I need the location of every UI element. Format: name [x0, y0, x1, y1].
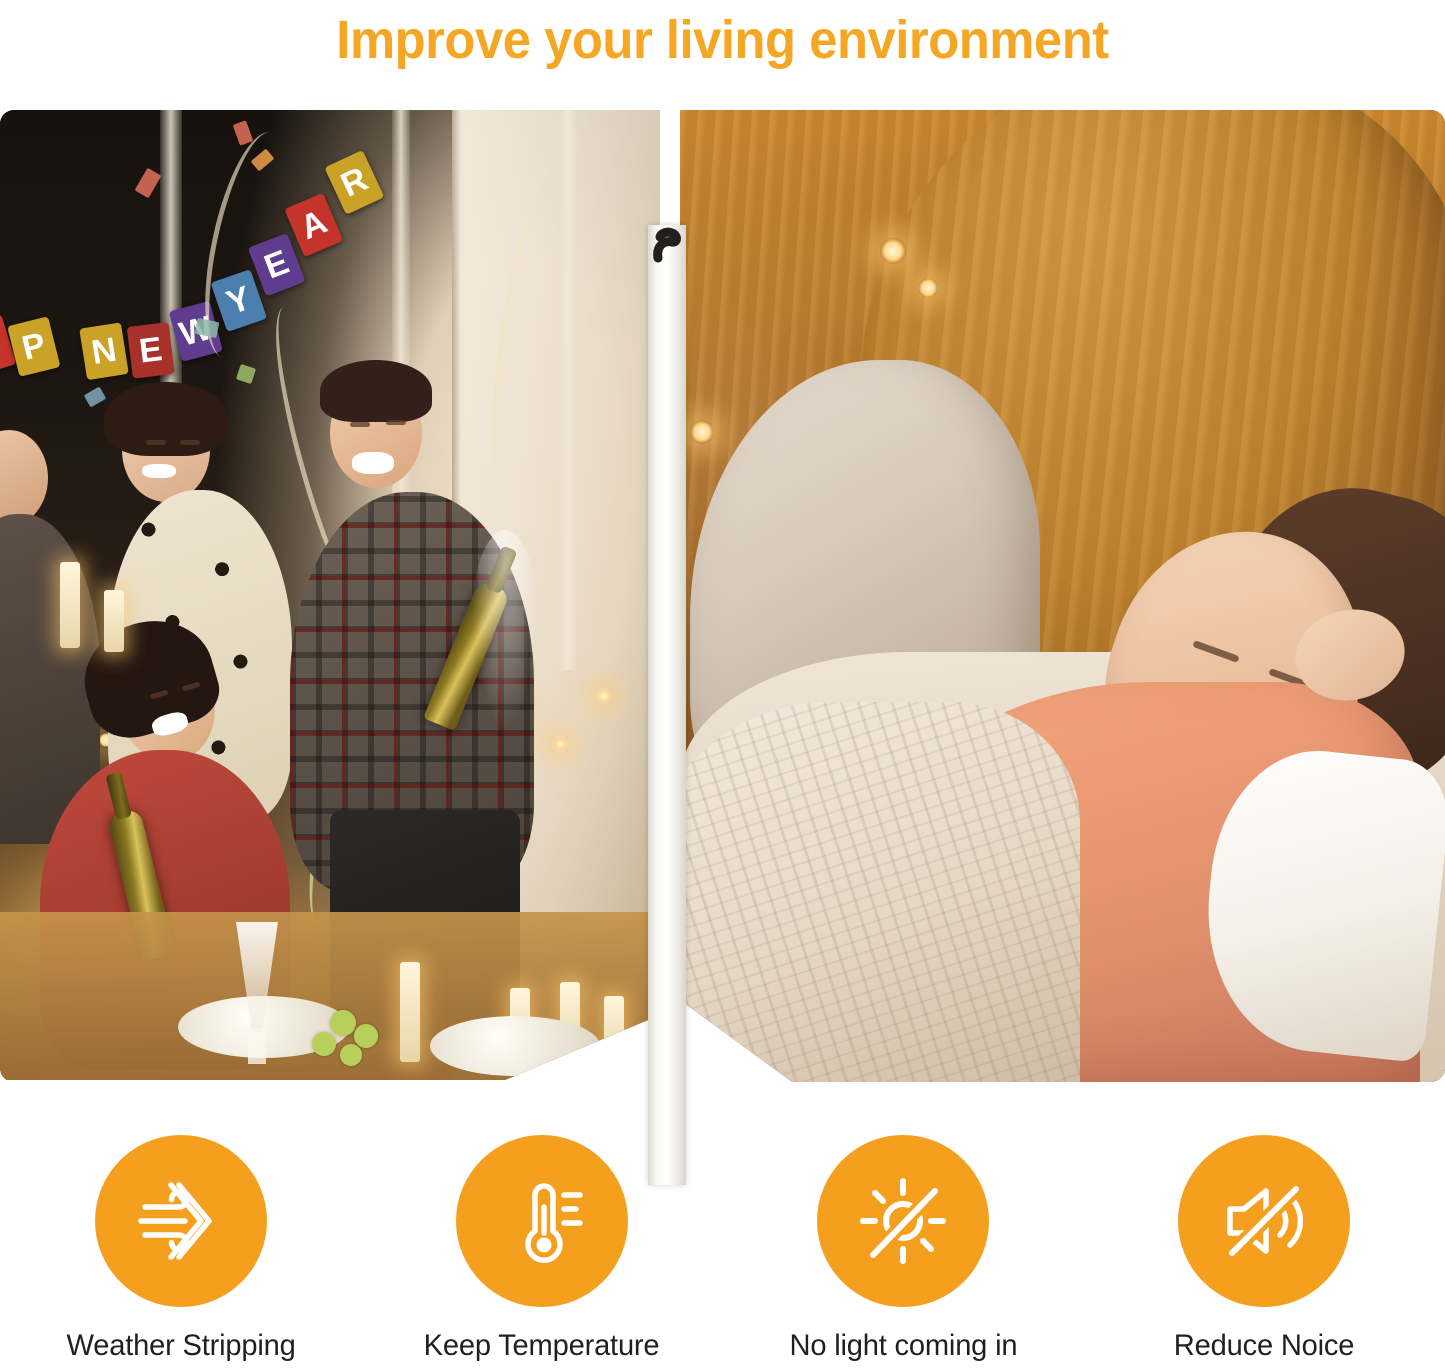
feature-label: Weather Stripping [66, 1329, 295, 1363]
feature-label: No light coming in [789, 1329, 1017, 1363]
feature-list: Weather Stripping Keep Temperature [0, 1135, 1445, 1371]
banner-letter: E [127, 322, 175, 379]
sun-slash-icon [817, 1135, 989, 1307]
banner-letter: N [79, 322, 129, 380]
eye [350, 422, 370, 427]
fairy-light [552, 736, 568, 752]
person-hair [104, 382, 228, 456]
candle [604, 996, 624, 1062]
open-mouth [352, 452, 394, 474]
smile [142, 464, 176, 478]
champagne-spray [470, 530, 540, 730]
feature-keep-temperature[interactable]: Keep Temperature [361, 1135, 722, 1371]
candle [400, 962, 420, 1062]
grapes [330, 1010, 356, 1036]
product-feature-banner: Improve your living environment P P N E … [0, 0, 1445, 1371]
left-photo-party: P P N E W Y E A R [0, 110, 660, 1082]
glass-stem [248, 1028, 266, 1064]
wind-arrow-icon [95, 1135, 267, 1307]
eye [180, 440, 200, 445]
fairy-light [596, 688, 612, 704]
grapes [340, 1044, 362, 1066]
grapes [312, 1032, 336, 1056]
weather-stripping-strip [648, 225, 686, 1185]
weather-stripping-seal-profile [652, 224, 698, 270]
fairy-light [918, 278, 938, 298]
candle [60, 562, 80, 648]
food-bowl [430, 1016, 600, 1076]
banner-letter: R [324, 150, 384, 215]
eye [146, 440, 166, 445]
feature-label: Keep Temperature [424, 1329, 660, 1363]
banner-letter: A [284, 193, 343, 257]
hero-image-pair: P P N E W Y E A R [0, 110, 1445, 1082]
person-hair [320, 360, 432, 422]
page-title: Improve your living environment [43, 0, 1401, 80]
feature-label: Reduce Noice [1174, 1329, 1354, 1363]
candle [104, 590, 124, 652]
right-photo-sleeping-child [680, 110, 1445, 1082]
eye [386, 420, 406, 425]
speaker-mute-icon [1178, 1135, 1350, 1307]
banner-letter: P [7, 316, 60, 377]
fairy-light [880, 238, 906, 264]
fairy-light [690, 420, 714, 444]
thermometer-icon [456, 1135, 628, 1307]
feature-no-light[interactable]: No light coming in [723, 1135, 1084, 1371]
feature-reduce-noise[interactable]: Reduce Noice [1084, 1135, 1445, 1371]
blanket-knitted [680, 702, 1080, 1082]
feature-weather-stripping[interactable]: Weather Stripping [0, 1135, 361, 1371]
grapes [354, 1024, 378, 1048]
